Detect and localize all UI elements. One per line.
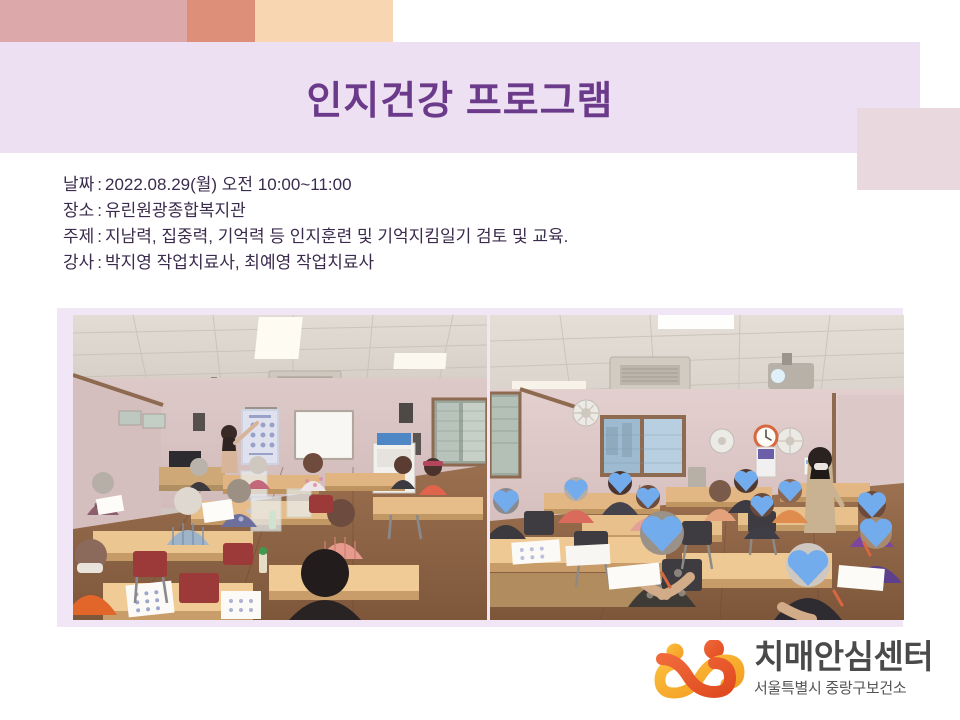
info-separator: : [94, 253, 105, 272]
info-value-place: 유린원광종합복지관 [105, 201, 246, 220]
info-line-date: 날짜:2022.08.29(월) 오전 10:00~11:00 [63, 172, 923, 198]
info-label-place: 장소 [63, 201, 94, 220]
info-label-topic: 주제 [63, 227, 94, 246]
info-block: 날짜:2022.08.29(월) 오전 10:00~11:00 장소:유린원광종… [63, 172, 923, 276]
info-label-instructor: 강사 [63, 253, 94, 272]
logo-title: 치매안심센터 [754, 638, 944, 676]
logo-subtitle: 서울특별시 중랑구보건소 [754, 678, 944, 700]
info-line-place: 장소:유린원광종합복지관 [63, 198, 923, 224]
info-separator: : [94, 201, 105, 220]
info-line-instructor: 강사:박지영 작업치료사, 최예영 작업치료사 [63, 250, 923, 276]
classroom-participants-photo [490, 315, 904, 620]
info-line-topic: 주제:지남력, 집중력, 기억력 등 인지훈련 및 기억지킴일기 검토 및 교육… [63, 224, 923, 250]
info-separator: : [94, 227, 105, 246]
page-title: 인지건강 프로그램 [0, 42, 920, 153]
classroom-lecture-photo [73, 315, 487, 620]
info-label-date: 날짜 [63, 175, 94, 194]
info-separator: : [94, 175, 105, 194]
info-value-topic: 지남력, 집중력, 기억력 등 인지훈련 및 기억지킴일기 검토 및 교육. [105, 227, 568, 246]
two-figures-infinity-logo-icon [652, 640, 748, 702]
photo-frame [57, 308, 903, 627]
info-value-instructor: 박지영 작업치료사, 최예영 작업치료사 [105, 253, 374, 272]
slide-canvas: 인지건강 프로그램 날짜:2022.08.29(월) 오전 10:00~11:0… [0, 0, 960, 720]
logo-text: 치매안심센터 서울특별시 중랑구보건소 [754, 638, 944, 700]
organization-logo: 치매안심센터 서울특별시 중랑구보건소 [652, 638, 942, 710]
info-value-date: 2022.08.29(월) 오전 10:00~11:00 [105, 175, 352, 194]
